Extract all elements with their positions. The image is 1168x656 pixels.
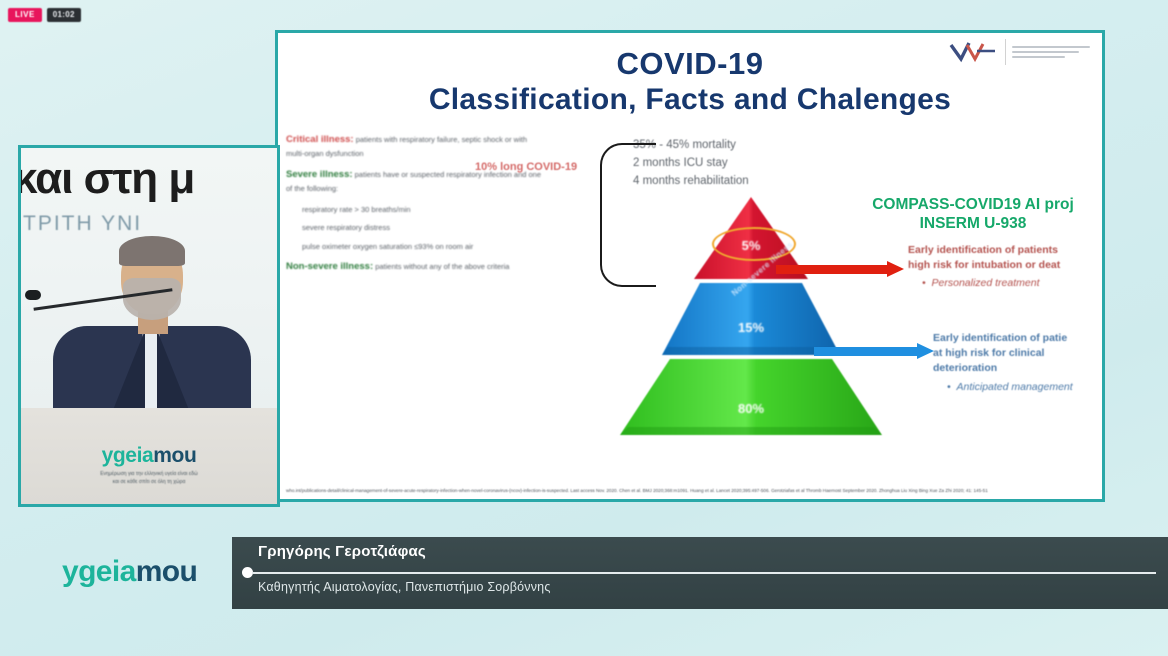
critical-outcome-line-2: high risk for intubation or deat [908,258,1105,273]
severe-bullet: respiratory rate > 30 breaths/min [302,204,542,216]
webcam-logo-part-2: mou [153,444,196,467]
critical-illness-heading: Critical illness: [286,134,354,145]
critical-outcome-line-1: Early identification of patients [908,243,1105,258]
video-player-stage: LIVE 01:02 COVID-19 Classification, Fact… [0,0,1168,656]
webcam-tagline-line-2: και σε κάθε σπίτι σε όλη τη χώρα [21,479,277,487]
severe-outcome-line-3: deterioration [933,361,1105,376]
pyramid-mid-percent: 15% [709,320,793,335]
speaker-role: Καθηγητής Αιματολογίας, Πανεπιστήμιο Σορ… [258,580,551,594]
red-arrow-icon [776,261,904,277]
critical-outcome-bullet: • Personalized treatment [922,276,1105,291]
clinical-classification-column: Critical illness: patients with respirat… [286,133,542,283]
severe-outcome-block: Early identification of patie at high ri… [933,331,1105,395]
severe-bullet: severe respiratory distress [302,222,542,234]
microphone-icon [25,290,41,300]
channel-brand-logo: ygeiamou [62,555,197,589]
severe-illness-bullets: respiratory rate > 30 breaths/min severe… [302,204,542,253]
severe-outcome-line-1: Early identification of patie [933,331,1105,346]
brand-part-2: mou [136,555,198,588]
nonsevere-illness-heading: Non-severe illness: [286,261,373,272]
severe-outcome-bullet: • Anticipated management [947,380,1105,395]
blue-arrow-icon [814,343,934,359]
slide-title-line-2: Classification, Facts and Chalenges [278,83,1102,118]
webcam-tagline-line-1: Ενημέρωση για την ελληνική υγεία είναι ε… [21,471,277,479]
critical-outcome-block: Early identification of patients high ri… [908,243,1105,292]
severity-pyramid-chart: 5% 15% 80% [606,183,896,443]
severe-outcome-line-2: at high risk for clinical [933,346,1105,361]
webcam-overlay-tagline: Ενημέρωση για την ελληνική υγεία είναι ε… [21,471,277,486]
stream-status-badges: LIVE 01:02 [8,8,81,22]
podium-panel: ygeiamou Ενημέρωση για την ελληνική υγεί… [21,408,277,504]
backdrop-subline: ΤΡΙΤΗ ΥΝΙ [23,212,142,236]
presentation-slide: COVID-19 Classification, Facts and Chale… [275,30,1105,502]
pyramid-top-percent: 5% [726,238,776,253]
brand-part-1: ygeia [62,555,136,588]
nonsevere-illness-text: patients without any of the above criter… [375,262,509,271]
nonsevere-illness-block: Non-severe illness: patients without any… [286,260,542,275]
elapsed-time-badge: 01:02 [47,8,81,22]
slide-title-line-1: COVID-19 [278,47,1102,81]
webcam-overlay-logo: ygeiamou [21,444,277,468]
webcam-logo-part-1: ygeia [102,444,154,467]
critical-outcome-bullet-label: Personalized treatment [932,277,1040,289]
backdrop-headline: και στη μ [18,154,194,204]
speaker-webcam-feed: και στη μ ΤΡΙΤΗ ΥΝΙ ygeiamou Ενημέρωση γ… [18,145,280,507]
speaker-name: Γρηγόρης Γερoτζιάφας [258,543,426,560]
severe-outcome-bullet-label: Anticipated management [957,381,1073,393]
pyramid-bottom-percent: 80% [706,401,796,416]
critical-illness-block: Critical illness: patients with respirat… [286,133,542,159]
long-covid-label: 10% long COVID-19 [475,161,577,173]
severe-illness-heading: Severe illness: [286,169,353,180]
lower-third-banner: Γρηγόρης Γερoτζιάφας Καθηγητής Αιματολογ… [232,537,1168,609]
slide-title: COVID-19 Classification, Facts and Chale… [278,47,1102,118]
severe-bullet: pulse oximeter oxygen saturation ≤93% on… [302,241,542,253]
live-badge: LIVE [8,8,42,22]
divider-rule [252,572,1156,574]
slide-references: who.int/publications-detail/clinical-man… [286,488,1094,495]
